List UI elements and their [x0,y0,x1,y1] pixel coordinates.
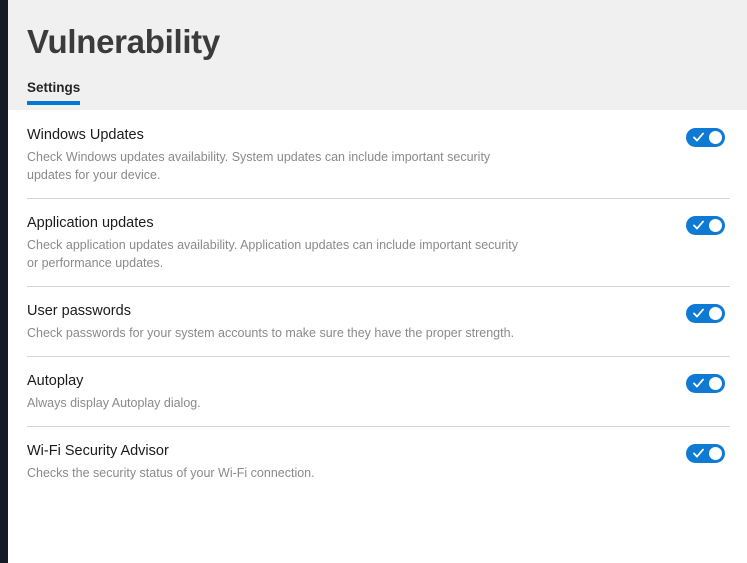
check-icon [693,448,704,459]
setting-title: User passwords [27,302,519,320]
setting-row-wifi-security-advisor: Wi-Fi Security Advisor Checks the securi… [8,426,747,496]
setting-row-user-passwords: User passwords Check passwords for your … [8,286,747,356]
toggle-wrapper [686,214,725,235]
check-icon [693,220,704,231]
toggle-user-passwords[interactable] [686,304,725,323]
toggle-knob [709,307,722,320]
check-icon [693,378,704,389]
setting-description: Checks the security status of your Wi-Fi… [27,464,519,482]
settings-list: Windows Updates Check Windows updates av… [8,110,747,496]
setting-description: Check application updates availability. … [27,236,519,272]
toggle-application-updates[interactable] [686,216,725,235]
setting-title: Autoplay [27,372,519,390]
setting-row-application-updates: Application updates Check application up… [8,198,747,286]
setting-description: Always display Autoplay dialog. [27,394,519,412]
left-edge-bar [0,0,8,563]
settings-content: Windows Updates Check Windows updates av… [8,110,747,563]
page-header: Vulnerability Settings [8,0,747,110]
setting-text: User passwords Check passwords for your … [27,302,519,342]
setting-text: Application updates Check application up… [27,214,519,272]
setting-title: Application updates [27,214,519,232]
toggle-wrapper [686,442,725,463]
toggle-wrapper [686,372,725,393]
toggle-knob [709,377,722,390]
setting-text: Wi-Fi Security Advisor Checks the securi… [27,442,519,482]
page-title: Vulnerability [27,22,220,62]
setting-title: Windows Updates [27,126,519,144]
check-icon [693,132,704,143]
check-icon [693,308,704,319]
setting-description: Check Windows updates availability. Syst… [27,148,519,184]
toggle-knob [709,219,722,232]
vulnerability-settings-page: Vulnerability Settings Windows Updates C… [0,0,747,563]
toggle-knob [709,131,722,144]
toggle-wrapper [686,126,725,147]
setting-text: Windows Updates Check Windows updates av… [27,126,519,184]
toggle-knob [709,447,722,460]
setting-title: Wi-Fi Security Advisor [27,442,519,460]
toggle-windows-updates[interactable] [686,128,725,147]
toggle-wifi-security-advisor[interactable] [686,444,725,463]
toggle-wrapper [686,302,725,323]
toggle-autoplay[interactable] [686,374,725,393]
tab-bar: Settings [27,80,80,105]
tab-settings-label: Settings [27,80,80,95]
setting-description: Check passwords for your system accounts… [27,324,519,342]
setting-row-windows-updates: Windows Updates Check Windows updates av… [8,110,747,198]
setting-row-autoplay: Autoplay Always display Autoplay dialog. [8,356,747,426]
setting-text: Autoplay Always display Autoplay dialog. [27,372,519,412]
tab-settings[interactable]: Settings [27,80,80,105]
